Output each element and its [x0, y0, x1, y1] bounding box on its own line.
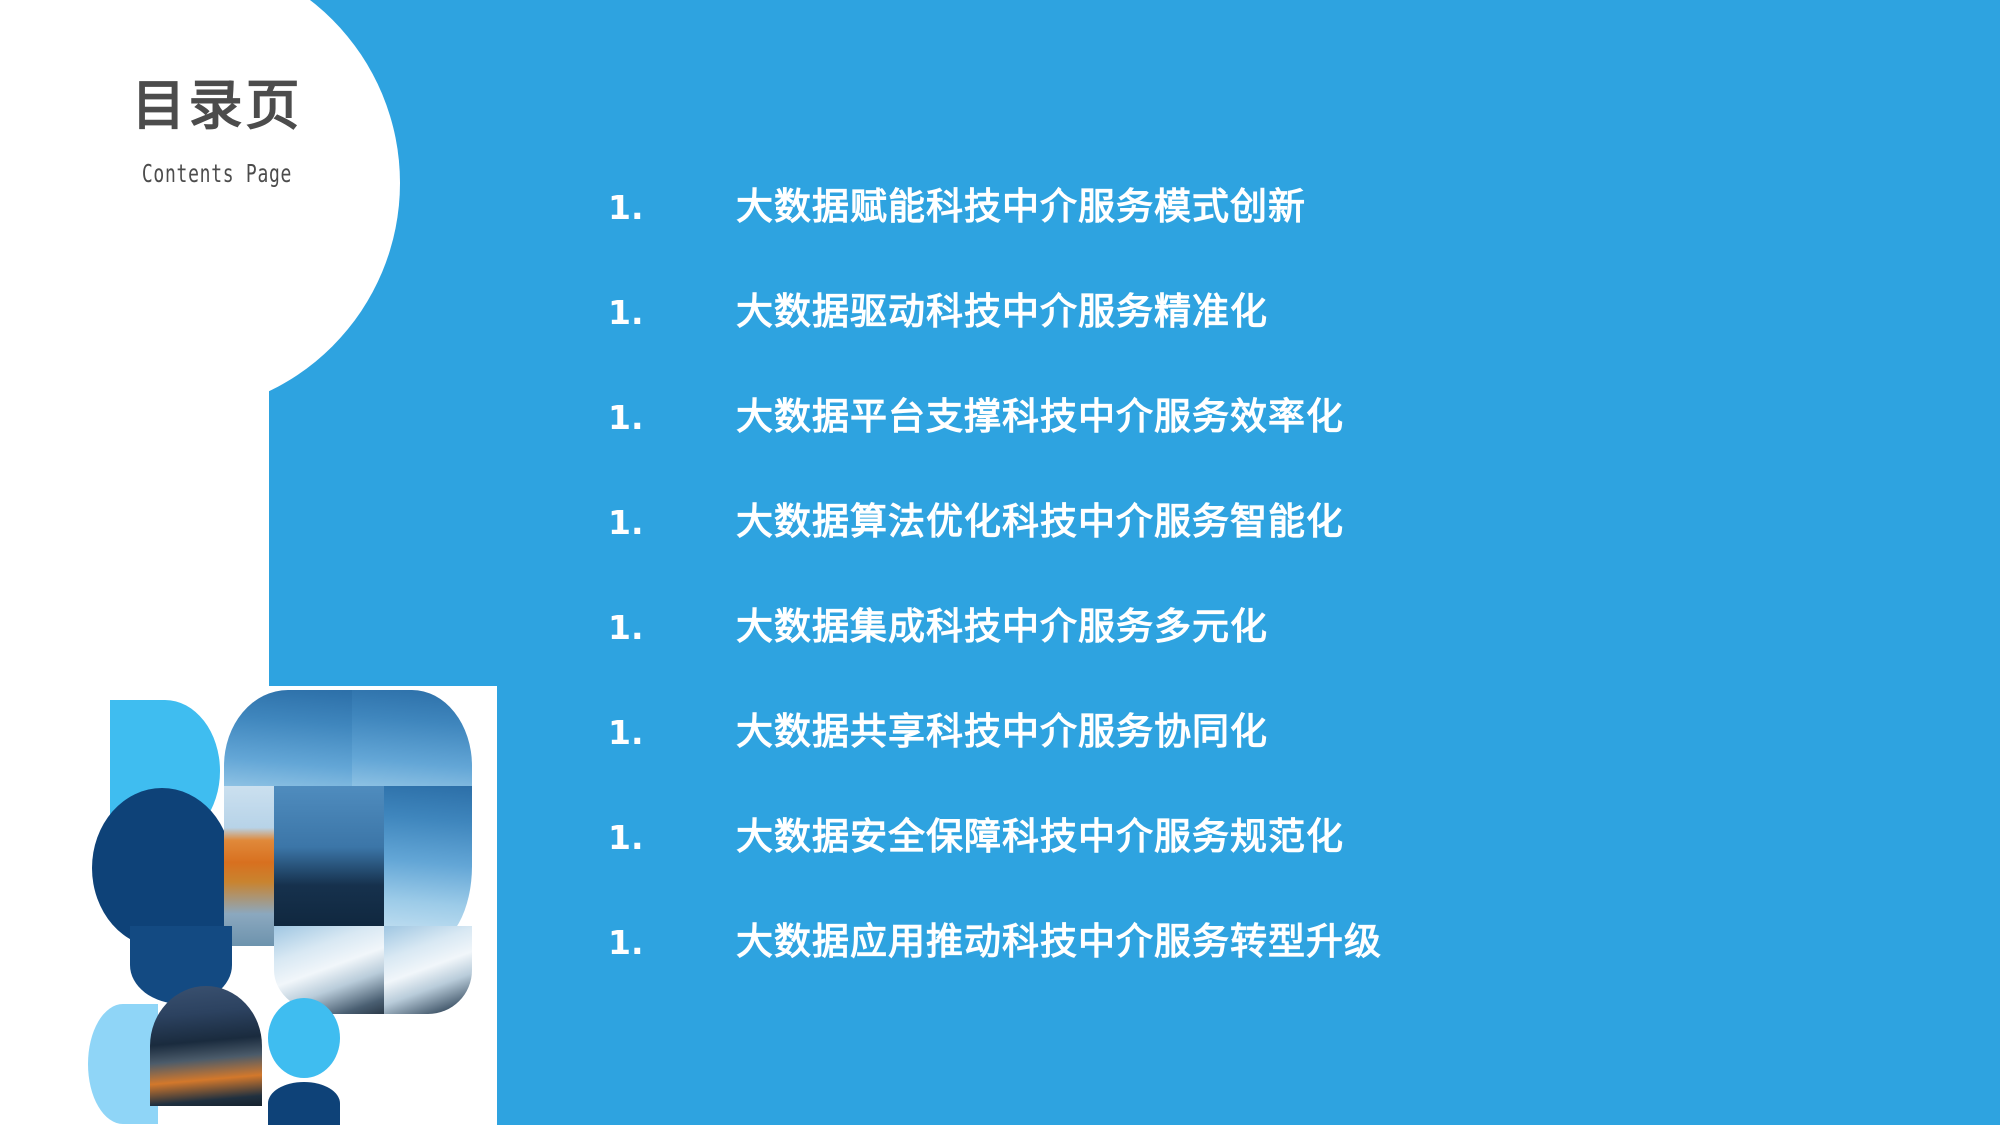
- mosaic-tile-dark-reflection-photo: [150, 1078, 262, 1125]
- mosaic-tile-navy-dome: [268, 1082, 340, 1125]
- list-item[interactable]: 1. 大数据算法优化科技中介服务智能化: [608, 491, 1928, 596]
- mosaic-tile-wheel-photo: [344, 998, 472, 1125]
- list-item[interactable]: 1. 大数据安全保障科技中介服务规范化: [608, 806, 1928, 911]
- mosaic-tile-sky-photo-lower: [384, 786, 472, 946]
- photo-shape-mosaic: [88, 686, 498, 1125]
- list-item-label: 大数据集成科技中介服务多元化: [736, 596, 1268, 650]
- mosaic-tile-light-blue-circle: [268, 998, 340, 1078]
- list-item[interactable]: 1. 大数据共享科技中介服务协同化: [608, 701, 1928, 806]
- list-item-number: 1.: [608, 503, 736, 542]
- slide-contents-page: 目录页 Contents Page 1. 大数据赋能科技中介服务模式创新 1. …: [0, 0, 2000, 1125]
- list-item-number: 1.: [608, 398, 736, 437]
- list-item[interactable]: 1. 大数据集成科技中介服务多元化: [608, 596, 1928, 701]
- list-item[interactable]: 1. 大数据驱动科技中介服务精准化: [608, 281, 1928, 386]
- list-item-number: 1.: [608, 608, 736, 647]
- mosaic-tile-city-skyline-photo: [274, 786, 384, 946]
- list-item-label: 大数据平台支撑科技中介服务效率化: [736, 386, 1344, 440]
- list-item[interactable]: 1. 大数据平台支撑科技中介服务效率化: [608, 386, 1928, 491]
- list-item-label: 大数据应用推动科技中介服务转型升级: [736, 911, 1382, 965]
- list-item-number: 1.: [608, 713, 736, 752]
- list-item-number: 1.: [608, 818, 736, 857]
- list-item-label: 大数据共享科技中介服务协同化: [736, 701, 1268, 755]
- contents-list: 1. 大数据赋能科技中介服务模式创新 1. 大数据驱动科技中介服务精准化 1. …: [608, 176, 1928, 1016]
- list-item-label: 大数据算法优化科技中介服务智能化: [736, 491, 1344, 545]
- list-item-number: 1.: [608, 293, 736, 332]
- list-item-number: 1.: [608, 188, 736, 227]
- list-item-label: 大数据驱动科技中介服务精准化: [736, 281, 1268, 335]
- list-item[interactable]: 1. 大数据应用推动科技中介服务转型升级: [608, 911, 1928, 1016]
- mosaic-tile-pale-blue-petal: [88, 1004, 158, 1124]
- page-subtitle: Contents Page: [98, 159, 336, 188]
- list-item-label: 大数据赋能科技中介服务模式创新: [736, 176, 1306, 230]
- mosaic-tile-tower-photo: [224, 786, 274, 946]
- title-block: 目录页 Contents Page: [52, 76, 382, 188]
- page-title: 目录页: [52, 76, 382, 135]
- list-item-label: 大数据安全保障科技中介服务规范化: [736, 806, 1344, 860]
- list-item[interactable]: 1. 大数据赋能科技中介服务模式创新: [608, 176, 1928, 281]
- mosaic-tile-navy-petal: [92, 788, 232, 948]
- list-item-number: 1.: [608, 923, 736, 962]
